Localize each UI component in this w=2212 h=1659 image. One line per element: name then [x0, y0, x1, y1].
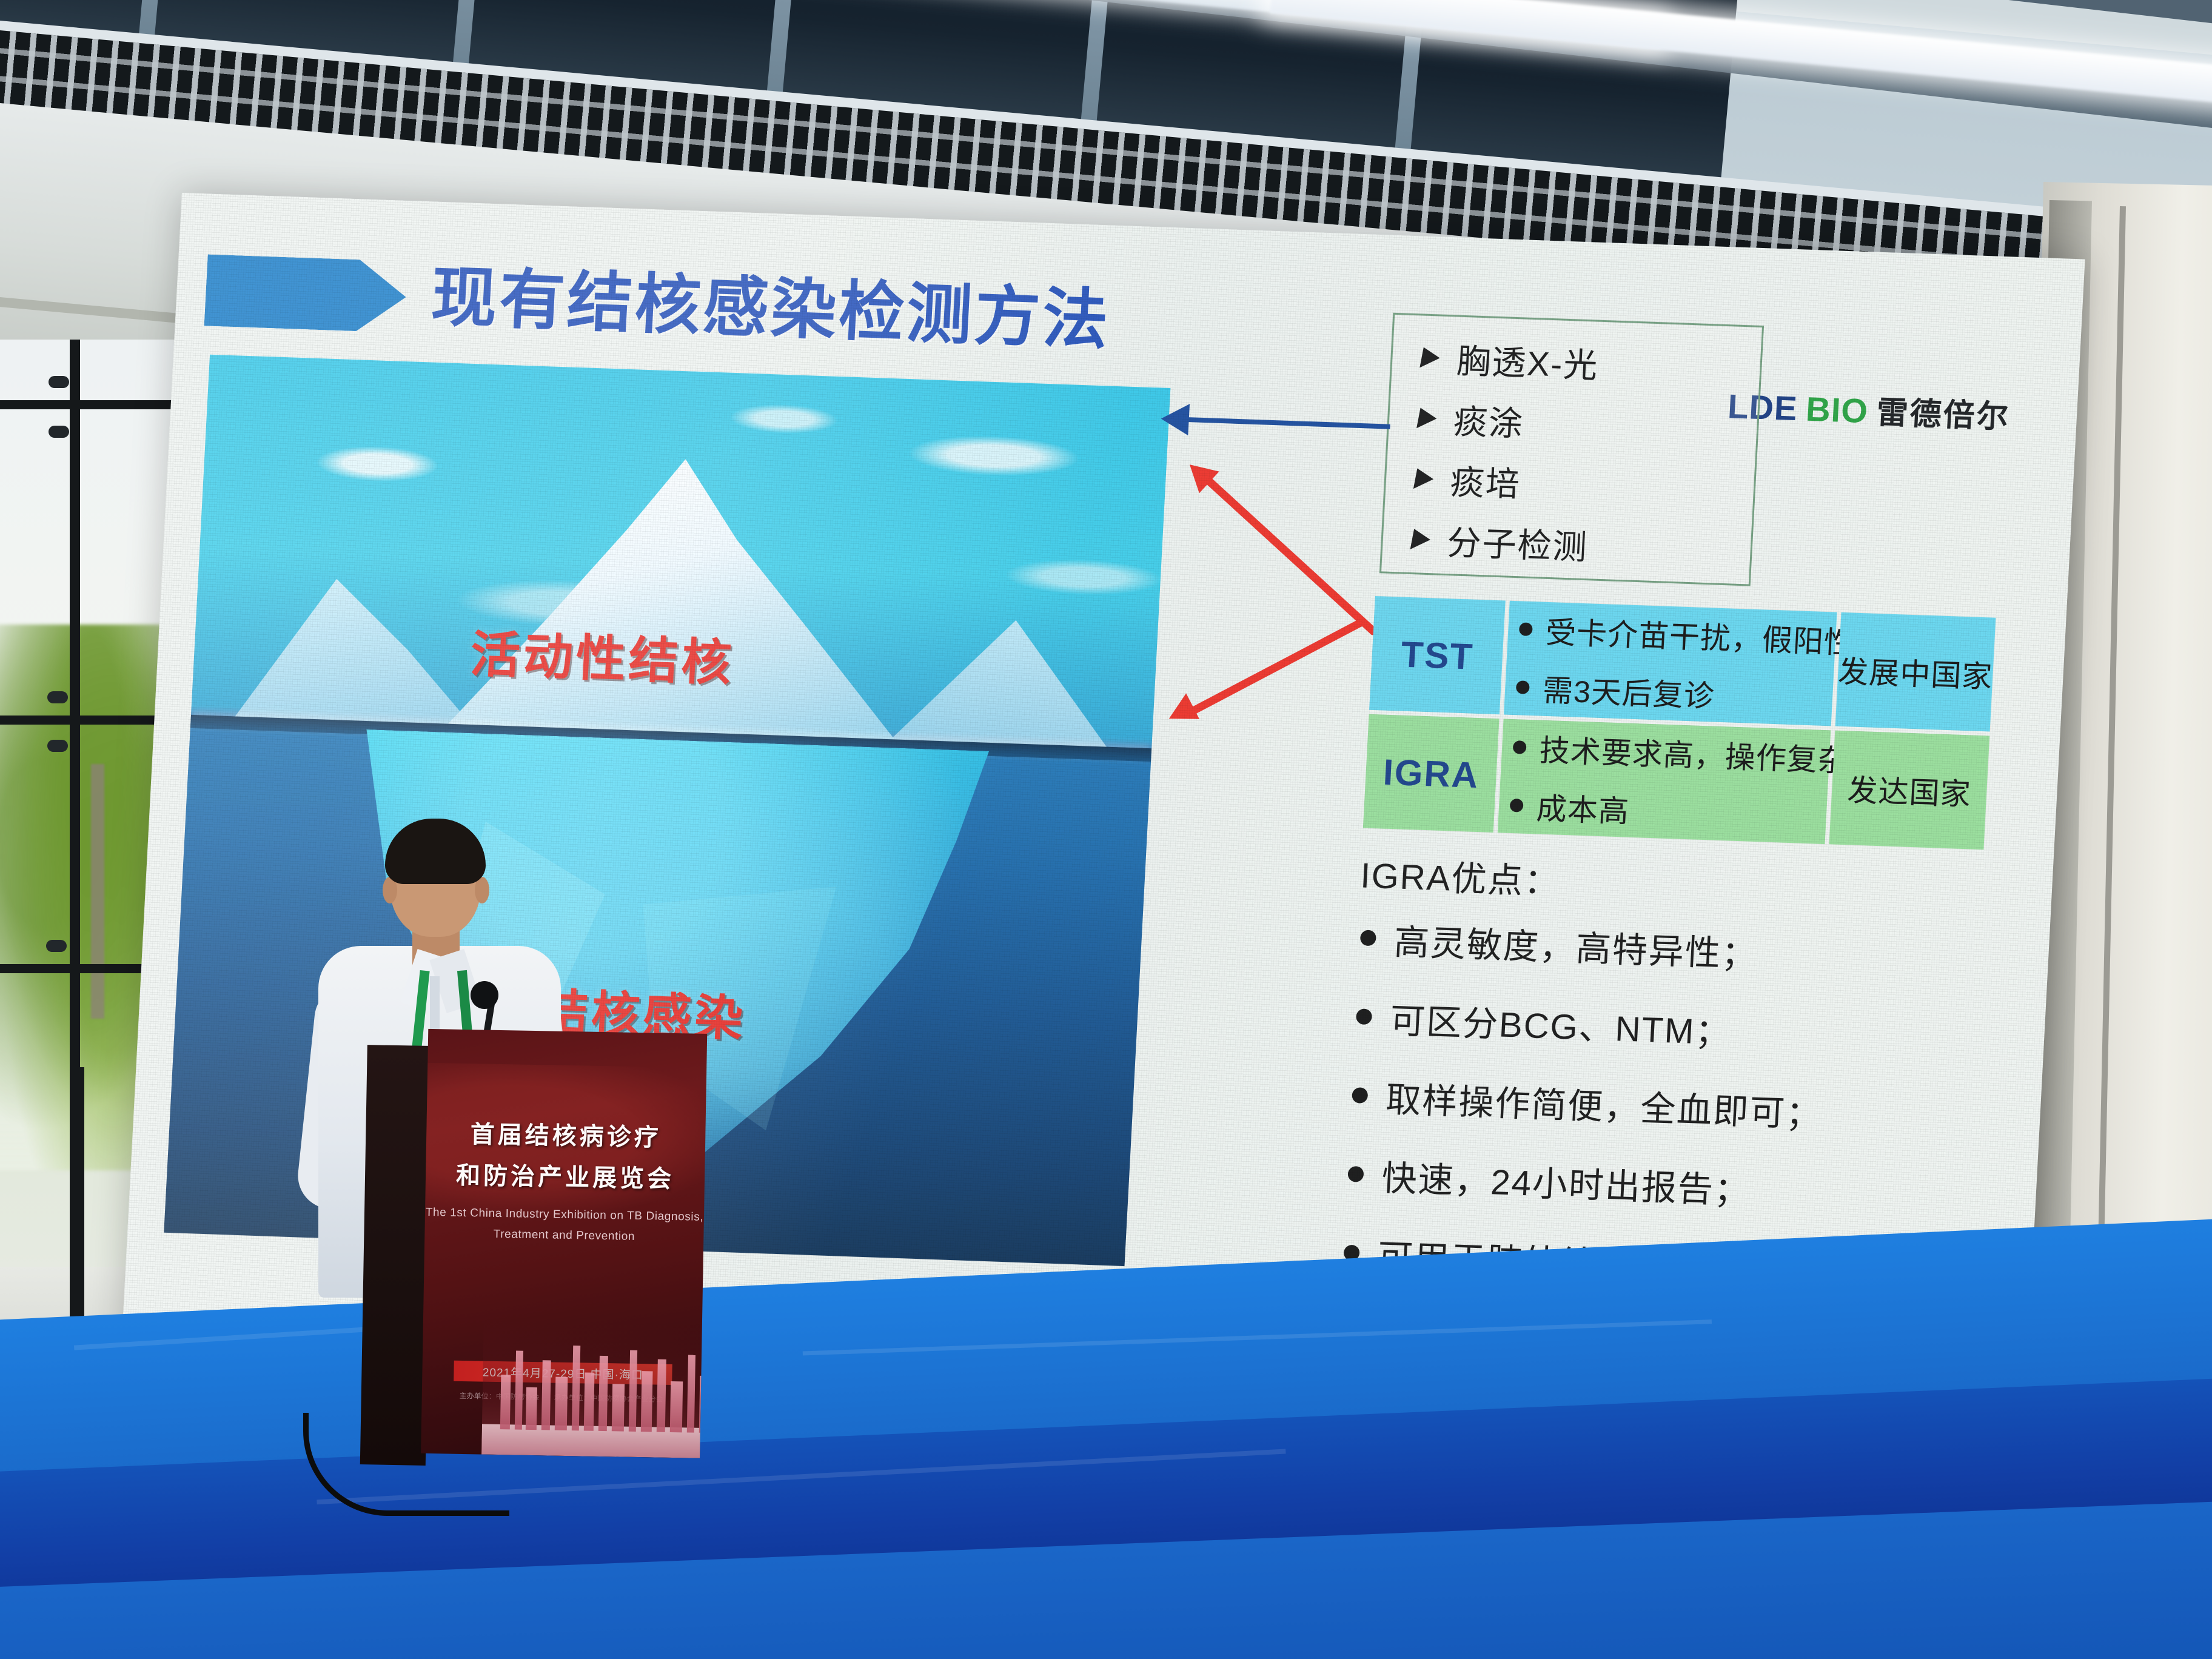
- palm-trunk: [91, 764, 104, 1019]
- speaker-hair: [385, 819, 486, 884]
- blue-arrow-head-icon: [1160, 403, 1190, 436]
- podium-skyline-graphic: [481, 1321, 707, 1458]
- red-arrow-lower-head-icon: [1162, 693, 1199, 731]
- table-row-points-igra: 技术要求高，操作复杂 成本高: [1498, 719, 1831, 844]
- advantage-label: 取样操作简便，全血即可；: [1385, 1071, 1824, 1137]
- arrow-bullet-icon: [1419, 347, 1442, 368]
- advantage-label: 高灵敏度，高特异性；: [1393, 913, 1759, 977]
- podium-title-line2: 和防治产业展览会: [426, 1155, 705, 1195]
- list-item: 快速，24小时出报告；: [1347, 1148, 1820, 1216]
- logo-text-bio: BIO: [1805, 389, 1869, 431]
- list-item: 可区分BCG、NTM；: [1355, 991, 1828, 1058]
- table-point: 受卡介苗干扰，假阳性: [1544, 608, 1856, 663]
- iceberg-label-active-tb: 活动性结核: [469, 614, 736, 695]
- advantage-label: 快速，24小时出报告；: [1381, 1150, 1752, 1213]
- method-item-label: 胸透X-光: [1455, 334, 1600, 388]
- red-arrow-lower-line: [1185, 618, 1364, 718]
- method-item-label: 痰培: [1449, 455, 1522, 506]
- method-item-label: 痰涂: [1452, 394, 1525, 446]
- bullet-dot-icon: [1352, 1087, 1368, 1104]
- bullet-dot-icon: [1360, 930, 1376, 946]
- photo-scene: 现有结核感染检测方法 LDE BIO 雷德倍尔: [0, 0, 2212, 1659]
- bullet-dot-icon: [1347, 1166, 1364, 1182]
- detection-methods-box: 胸透X-光 痰涂 痰培 分子检测: [1379, 313, 1764, 586]
- table-row-region-tst: 发展中国家: [1835, 612, 1996, 732]
- arrow-bullet-icon: [1413, 468, 1436, 489]
- list-item: 取样操作简便，全血即可；: [1351, 1070, 1824, 1137]
- table-row-points-tst: 受卡介苗干扰，假阳性 需3天后复诊: [1504, 601, 1837, 726]
- logo-text-chinese: 雷德倍尔: [1875, 387, 2011, 437]
- table-row-label-tst: TST: [1369, 596, 1506, 714]
- table-row-region-igra: 发达国家: [1829, 731, 1989, 850]
- microphone-head-icon: [471, 981, 498, 1009]
- bullet-dot-icon: [1513, 740, 1527, 754]
- company-logo: LDE BIO 雷德倍尔: [1727, 381, 2011, 437]
- table-row-label-igra: IGRA: [1363, 714, 1500, 833]
- bullet-dot-icon: [1356, 1008, 1372, 1025]
- slide-title: 现有结核感染检测方法: [429, 244, 1113, 363]
- comparison-table: TST 受卡介苗干扰，假阳性 需3天后复诊 发展中国家 IGRA 技术要求高，操…: [1364, 596, 1988, 829]
- table-point: 技术要求高，操作复杂: [1538, 726, 1850, 781]
- table-point: 需3天后复诊: [1541, 666, 1715, 716]
- podium-subtitle-line1: The 1st China Industry Exhibition on TB …: [425, 1206, 704, 1224]
- title-chevron-icon: [204, 255, 408, 333]
- podium-front-panel: 首届结核病诊疗 和防治产业展览会 The 1st China Industry …: [421, 1029, 707, 1458]
- arrow-bullet-icon: [1416, 407, 1439, 429]
- list-item: 高灵敏度，高特异性；: [1359, 912, 1832, 979]
- podium-subtitle-line2: Treatment and Prevention: [424, 1227, 703, 1245]
- arrow-bullet-icon: [1410, 529, 1433, 550]
- bullet-dot-icon: [1510, 799, 1524, 813]
- bullet-dot-icon: [1516, 680, 1530, 694]
- podium-title-line1: 首届结核病诊疗: [426, 1114, 706, 1154]
- podium-lectern: 首届结核病诊疗 和防治产业展览会 The 1st China Industry …: [360, 1028, 707, 1470]
- advantages-list: 高灵敏度，高特异性； 可区分BCG、NTM； 取样操作简便，全血即可； 快速，2…: [1342, 912, 1832, 1294]
- red-arrow-upper-line: [1200, 472, 1378, 636]
- blue-connector-line: [1166, 417, 1390, 429]
- method-item-label: 分子检测: [1446, 515, 1589, 569]
- table-point: 成本高: [1535, 784, 1631, 831]
- bullet-dot-icon: [1519, 622, 1533, 636]
- advantages-heading: IGRA优点：: [1359, 846, 1562, 904]
- advantage-label: 可区分BCG、NTM；: [1389, 992, 1732, 1055]
